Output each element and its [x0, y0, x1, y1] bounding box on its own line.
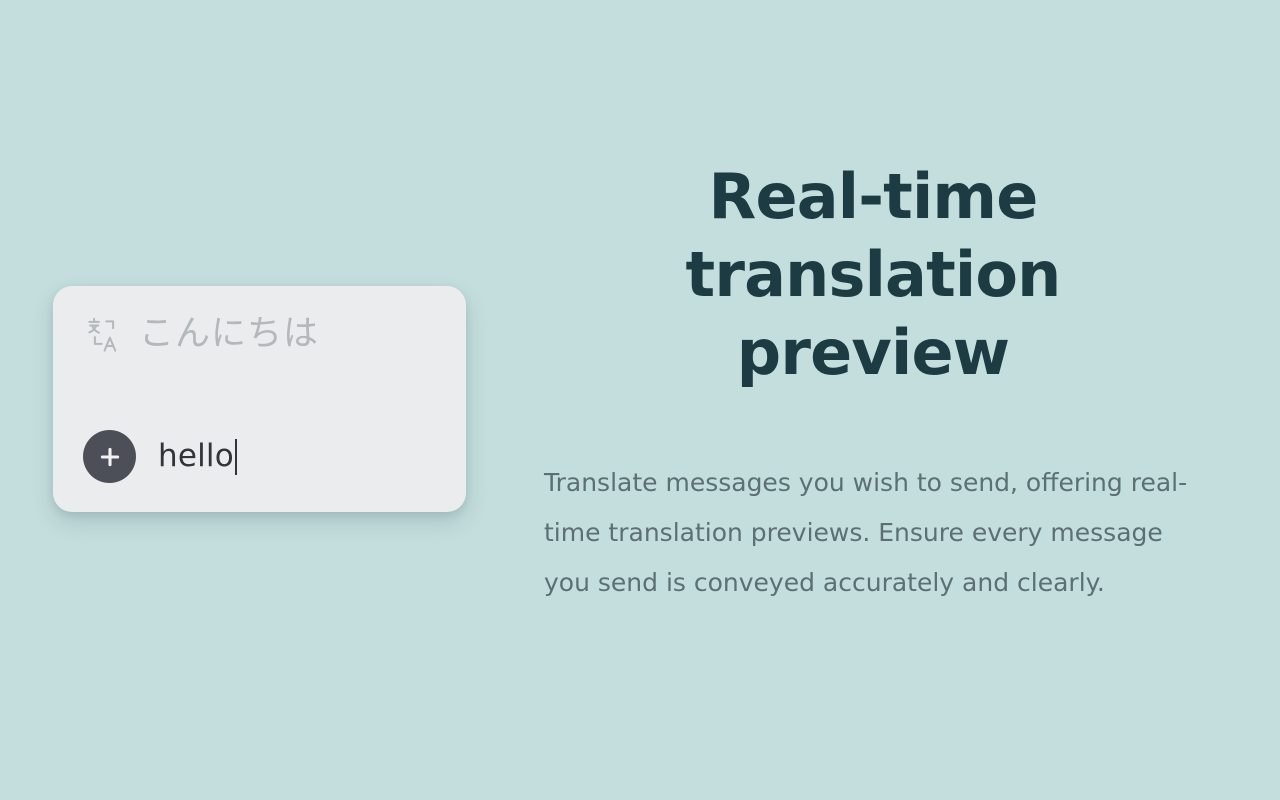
- text-cursor: [235, 439, 237, 475]
- plus-icon: [96, 443, 124, 471]
- composer-input-row: hello: [83, 430, 444, 483]
- feature-copy-column: Real-time translation preview Translate …: [544, 158, 1202, 608]
- feature-description: Translate messages you wish to send, off…: [544, 392, 1202, 608]
- translate-icon: [85, 314, 123, 354]
- message-input-value: hello: [158, 440, 234, 473]
- page-title: Real-time translation preview: [544, 158, 1202, 392]
- translated-preview-text: こんにちは: [139, 317, 319, 352]
- add-attachment-button[interactable]: [83, 430, 136, 483]
- message-input[interactable]: hello: [158, 439, 444, 475]
- message-composer-card: こんにちは hello: [53, 286, 466, 512]
- page-root: こんにちは hello Real-time translation pr: [0, 0, 1280, 800]
- translation-preview-row: こんにちは: [85, 314, 319, 354]
